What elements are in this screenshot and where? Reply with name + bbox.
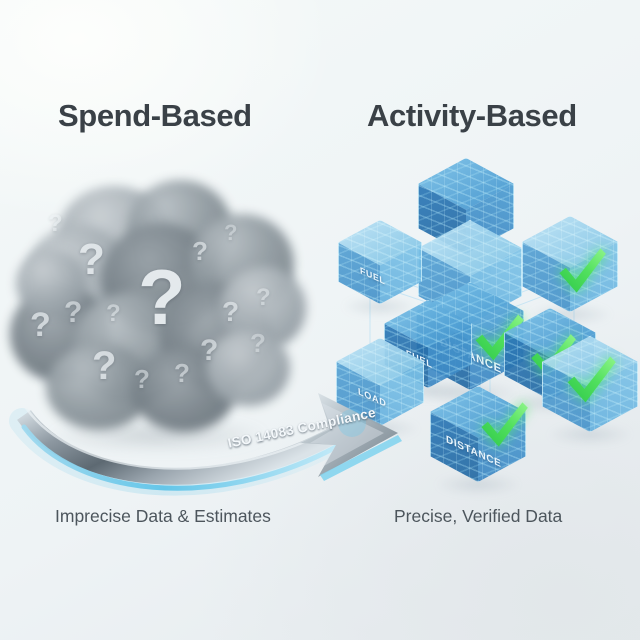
question-mark: ?	[192, 238, 208, 264]
question-mark: ?	[250, 330, 266, 356]
question-mark: ?	[64, 298, 82, 328]
heading-activity-based: Activity-Based	[367, 98, 577, 134]
question-mark: ?	[30, 308, 51, 342]
question-mark: ?	[138, 258, 186, 336]
curved-arrow-icon	[0, 385, 440, 500]
heading-spend-based: Spend-Based	[58, 98, 252, 134]
check-mark-icon	[562, 352, 618, 408]
check-mark-icon	[476, 398, 530, 452]
caption-imprecise-data: Imprecise Data & Estimates	[55, 506, 271, 527]
question-mark: ?	[224, 222, 237, 244]
infographic-canvas: Spend-Based Activity-Based ?????????????…	[0, 0, 640, 640]
caption-precise-data: Precise, Verified Data	[394, 506, 562, 527]
question-mark: ?	[78, 238, 105, 282]
cube-face	[338, 220, 422, 304]
question-mark: ?	[92, 346, 116, 386]
question-mark: ?	[256, 286, 271, 310]
question-mark: ?	[200, 336, 218, 366]
check-mark-icon	[554, 244, 608, 298]
arrow-head	[300, 393, 402, 481]
question-mark: ?	[222, 298, 239, 326]
cube-left-upper	[338, 220, 422, 304]
question-mark: ?	[106, 302, 121, 326]
question-mark: ?	[48, 212, 63, 236]
question-mark: ?	[174, 360, 190, 386]
